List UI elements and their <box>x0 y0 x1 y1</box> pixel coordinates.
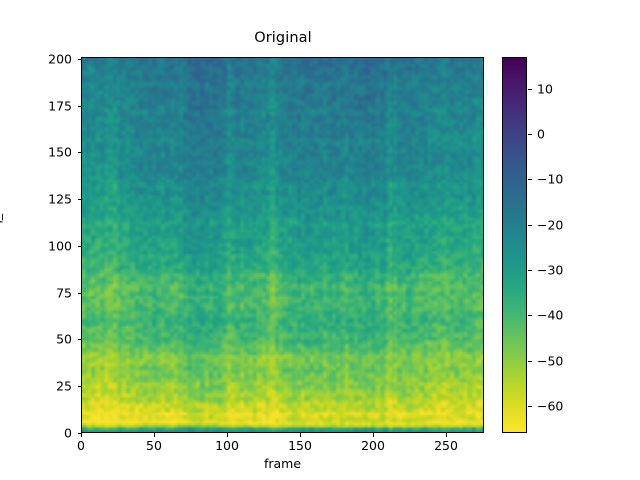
colorbar-tick-label: −40 <box>537 308 563 323</box>
y-tick-mark <box>78 59 82 60</box>
x-tick-label: 250 <box>434 438 458 453</box>
y-tick-mark <box>78 152 82 153</box>
colorbar-tick-label: −30 <box>537 262 563 277</box>
y-tick-label: 25 <box>12 379 72 394</box>
colorbar-tick-mark <box>528 179 532 180</box>
x-axis-label: frame <box>81 456 484 471</box>
spectrogram-heatmap <box>82 58 484 433</box>
x-tick-label: 150 <box>288 438 312 453</box>
colorbar-tick-mark <box>528 225 532 226</box>
y-tick-label: 50 <box>12 332 72 347</box>
colorbar-tick-label: 0 <box>537 127 545 142</box>
y-axis-label: freq_bin <box>0 195 3 245</box>
page-title: Original <box>0 30 566 46</box>
x-tick-label: 0 <box>77 438 85 453</box>
x-tick-mark <box>154 433 155 437</box>
y-tick-label: 75 <box>12 285 72 300</box>
colorbar-tick-label: 10 <box>537 81 553 96</box>
y-tick-mark <box>78 293 82 294</box>
colorbar-tick-mark <box>528 134 532 135</box>
y-tick-label: 200 <box>12 51 72 66</box>
x-tick-mark <box>81 433 82 437</box>
x-tick-mark <box>227 433 228 437</box>
colorbar-tick-label: −10 <box>537 172 563 187</box>
x-tick-mark <box>300 433 301 437</box>
colorbar-tick-mark <box>528 315 532 316</box>
y-tick-label: 0 <box>12 426 72 441</box>
x-tick-mark <box>446 433 447 437</box>
colorbar-tick-mark <box>528 89 532 90</box>
colorbar-tick-label: −50 <box>537 353 563 368</box>
x-tick-label: 200 <box>361 438 385 453</box>
colorbar-tick-label: −60 <box>537 398 563 413</box>
colorbar[interactable] <box>502 57 527 433</box>
colorbar-gradient <box>503 58 526 432</box>
y-tick-label: 100 <box>12 238 72 253</box>
y-tick-mark <box>78 199 82 200</box>
y-tick-label: 125 <box>12 192 72 207</box>
x-tick-label: 100 <box>215 438 239 453</box>
colorbar-tick-mark <box>528 406 532 407</box>
y-tick-mark <box>78 246 82 247</box>
y-tick-mark <box>78 106 82 107</box>
y-tick-mark <box>78 386 82 387</box>
x-tick-label: 50 <box>146 438 162 453</box>
colorbar-tick-mark <box>528 361 532 362</box>
colorbar-tick-label: −20 <box>537 217 563 232</box>
y-tick-label: 150 <box>12 145 72 160</box>
colorbar-tick-mark <box>528 270 532 271</box>
y-tick-mark <box>78 339 82 340</box>
matplotlib-figure: Original freq_bin frame 0255075100125150… <box>0 0 640 480</box>
y-tick-label: 175 <box>12 98 72 113</box>
x-tick-mark <box>373 433 374 437</box>
spectrogram-axes[interactable] <box>81 57 484 433</box>
